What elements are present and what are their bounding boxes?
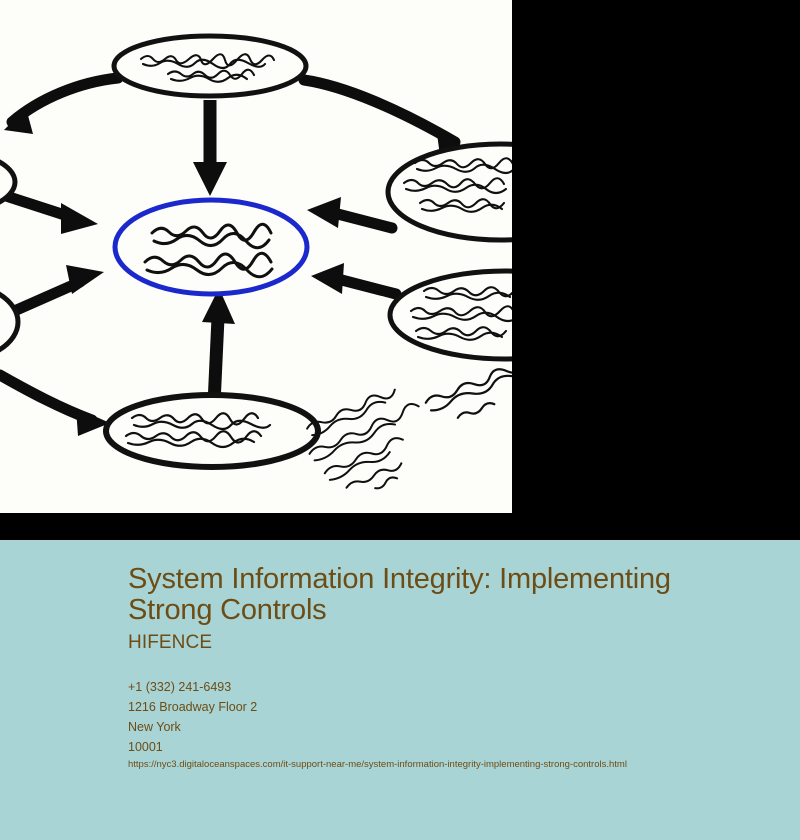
contact-city: New York [128, 717, 748, 737]
media-band [0, 0, 800, 540]
contact-postal-code: 10001 [128, 737, 748, 757]
brand-name: HIFENCE [128, 632, 212, 654]
page-root: System Information Integrity: Implementi… [0, 0, 800, 840]
source-url-link[interactable]: https://nyc3.digitaloceanspaces.com/it-s… [128, 758, 627, 772]
info-panel: System Information Integrity: Implementi… [0, 540, 800, 840]
diagram-figure [0, 0, 512, 513]
concept-map-diagram [0, 0, 512, 513]
top-ellipse [114, 36, 306, 96]
page-title: System Information Integrity: Implementi… [128, 564, 728, 626]
bottom-ellipse [106, 395, 318, 467]
center-ellipse [115, 200, 307, 294]
contact-street: 1216 Broadway Floor 2 [128, 697, 748, 717]
contact-block: +1 (332) 241-6493 1216 Broadway Floor 2 … [128, 677, 748, 757]
contact-phone: +1 (332) 241-6493 [128, 677, 748, 697]
